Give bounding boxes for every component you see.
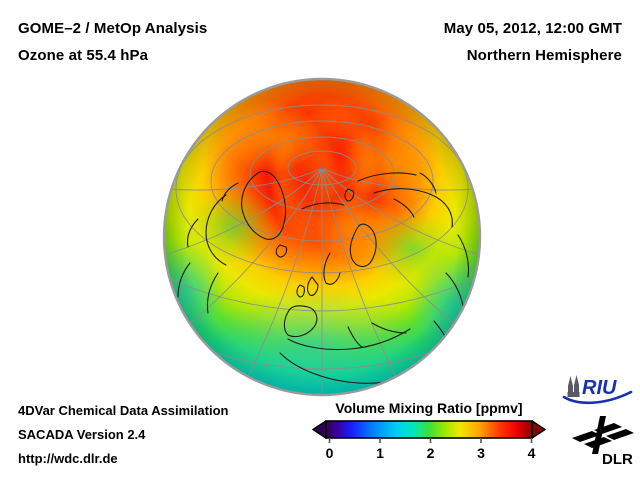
dlr-logo: DLR	[570, 414, 636, 468]
colorbar	[310, 419, 548, 443]
footer-line-2: SACADA Version 2.4	[18, 427, 145, 442]
colorbar-tick-4: 4	[528, 445, 536, 461]
dlr-emblem-icon	[572, 416, 634, 454]
colorbar-tick-0: 0	[326, 445, 334, 461]
riu-logo: RIU	[561, 373, 635, 405]
page-subtitle: Ozone at 55.4 hPa	[18, 47, 148, 64]
colorbar-tick-1: 1	[376, 445, 384, 461]
pole-marker	[320, 166, 324, 170]
colorbar-title: Volume Mixing Ratio [ppmv]	[312, 400, 546, 416]
colorbar-gradient	[326, 421, 532, 438]
date-label: May 05, 2012, 12:00 GMT	[444, 20, 622, 37]
cathedral-spires-icon	[568, 375, 580, 397]
footer-line-1: 4DVar Chemical Data Assimilation	[18, 403, 229, 418]
colorbar-tick-2: 2	[427, 445, 435, 461]
colorbar-tick-labels: 0 1 2 3 4	[310, 445, 548, 465]
colorbar-tick-3: 3	[477, 445, 485, 461]
dlr-wordmark: DLR	[602, 451, 633, 468]
riu-wordmark: RIU	[582, 377, 617, 399]
footer-url[interactable]: http://wdc.dlr.de	[18, 451, 118, 466]
globe-map	[162, 77, 482, 397]
colorbar-arrow-right	[532, 421, 545, 438]
colorbar-arrow-left	[313, 421, 326, 438]
page-title: GOME–2 / MetOp Analysis	[18, 20, 207, 37]
region-label: Northern Hemisphere	[467, 47, 622, 64]
